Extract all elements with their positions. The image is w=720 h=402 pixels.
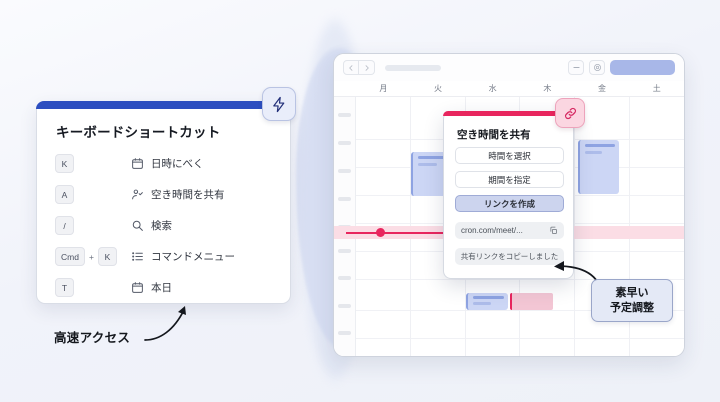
time-label-placeholder (338, 113, 351, 117)
time-label-placeholder (338, 141, 351, 145)
keycap: Cmd (55, 247, 85, 266)
time-label-placeholder (338, 169, 351, 173)
primary-action-button[interactable] (610, 60, 675, 75)
time-label-placeholder (338, 331, 351, 335)
popup-title: 空き時間を共有 (457, 127, 531, 142)
weekday-label: 月 (356, 81, 411, 96)
calendar-event[interactable] (466, 293, 508, 310)
shortcut-keys: Cmd + K (55, 247, 131, 266)
shortcut-label-group: 本日 (131, 280, 172, 295)
shortcut-keys: T (55, 278, 131, 297)
list-item[interactable]: Cmd + K コマンドメニュー (37, 241, 290, 272)
weekday-header: 月 火 水 木 金 土 (334, 81, 684, 97)
shortcut-label: 本日 (151, 280, 172, 295)
key-separator: + (88, 252, 95, 262)
command-list-icon (131, 250, 144, 263)
shortcut-label: コマンドメニュー (151, 249, 235, 264)
weekday-label: 木 (520, 81, 575, 96)
weekday-label: 土 (629, 81, 684, 96)
shortcut-keys: K (55, 154, 131, 173)
time-label-placeholder (338, 197, 351, 201)
calendar-event[interactable] (578, 140, 619, 194)
keycap: A (55, 185, 74, 204)
list-item[interactable]: / 検索 (37, 210, 290, 241)
chevron-right-icon[interactable] (359, 60, 375, 75)
select-time-button[interactable]: 時間を選択 (455, 147, 564, 164)
scheduling-caption-line1: 素早い (616, 286, 649, 301)
scheduling-caption: 素早い 予定調整 (591, 279, 673, 322)
copy-confirmation-toast: 共有リンクをコピーしました (455, 248, 564, 265)
create-link-button[interactable]: リンクを作成 (455, 195, 564, 212)
page-title: キーボードショートカット (56, 121, 220, 141)
copy-icon[interactable] (549, 226, 558, 235)
shortcut-label: 空き時間を共有 (151, 187, 225, 202)
list-item[interactable]: T 本日 (37, 272, 290, 303)
bolt-icon[interactable] (262, 87, 296, 121)
weekday-label: 金 (575, 81, 630, 96)
shortcut-label-group: 検索 (131, 218, 172, 233)
calendar-icon (131, 157, 144, 170)
current-time-dot (376, 228, 385, 237)
toolbar-actions (568, 60, 675, 75)
nav-group (343, 60, 375, 75)
share-availability-popup: 空き時間を共有 時間を選択 期間を指定 リンクを作成 cron.com/meet… (443, 111, 574, 279)
gear-icon[interactable] (589, 60, 605, 75)
keycap: K (55, 154, 74, 173)
person-check-icon (131, 188, 144, 201)
list-item[interactable]: A 空き時間を共有 (37, 179, 290, 210)
quick-access-caption: 高速アクセス (54, 327, 130, 346)
shortcut-label-group: 日時にべく (131, 156, 204, 171)
list-item[interactable]: K 日時にべく (37, 148, 290, 179)
shortcut-label-group: 空き時間を共有 (131, 187, 225, 202)
card-accent-bar (36, 101, 293, 109)
shortcut-keys: A (55, 185, 131, 204)
share-link-field[interactable]: cron.com/meet/... (455, 222, 564, 239)
busy-block[interactable] (510, 293, 553, 310)
keycap: / (55, 216, 74, 235)
weekday-label: 水 (465, 81, 520, 96)
weekday-label: 火 (411, 81, 466, 96)
shortcut-keys: / (55, 216, 131, 235)
time-label-placeholder (338, 249, 351, 253)
chevron-left-icon[interactable] (343, 60, 359, 75)
shortcut-label-group: コマンドメニュー (131, 249, 235, 264)
shortcut-label: 検索 (151, 218, 172, 233)
keyboard-shortcut-card: キーボードショートカット K 日時にべく A (36, 101, 291, 304)
keycap: T (55, 278, 74, 297)
scheduling-caption-line2: 予定調整 (610, 301, 654, 316)
link-icon[interactable] (555, 98, 585, 128)
minus-icon[interactable] (568, 60, 584, 75)
specify-period-button[interactable]: 期間を指定 (455, 171, 564, 188)
calendar-icon (131, 281, 144, 294)
calendar-toolbar (334, 54, 684, 81)
keycap: K (98, 247, 117, 266)
shortcut-label: 日時にべく (151, 156, 204, 171)
time-label-placeholder (338, 304, 351, 308)
shortcut-list: K 日時にべく A 空き時間を共有 (37, 148, 290, 303)
share-link-value: cron.com/meet/... (461, 226, 523, 235)
search-icon (131, 219, 144, 232)
window-title-placeholder (385, 65, 441, 71)
quick-access-arrow-icon (140, 300, 200, 346)
time-label-placeholder (338, 276, 351, 280)
